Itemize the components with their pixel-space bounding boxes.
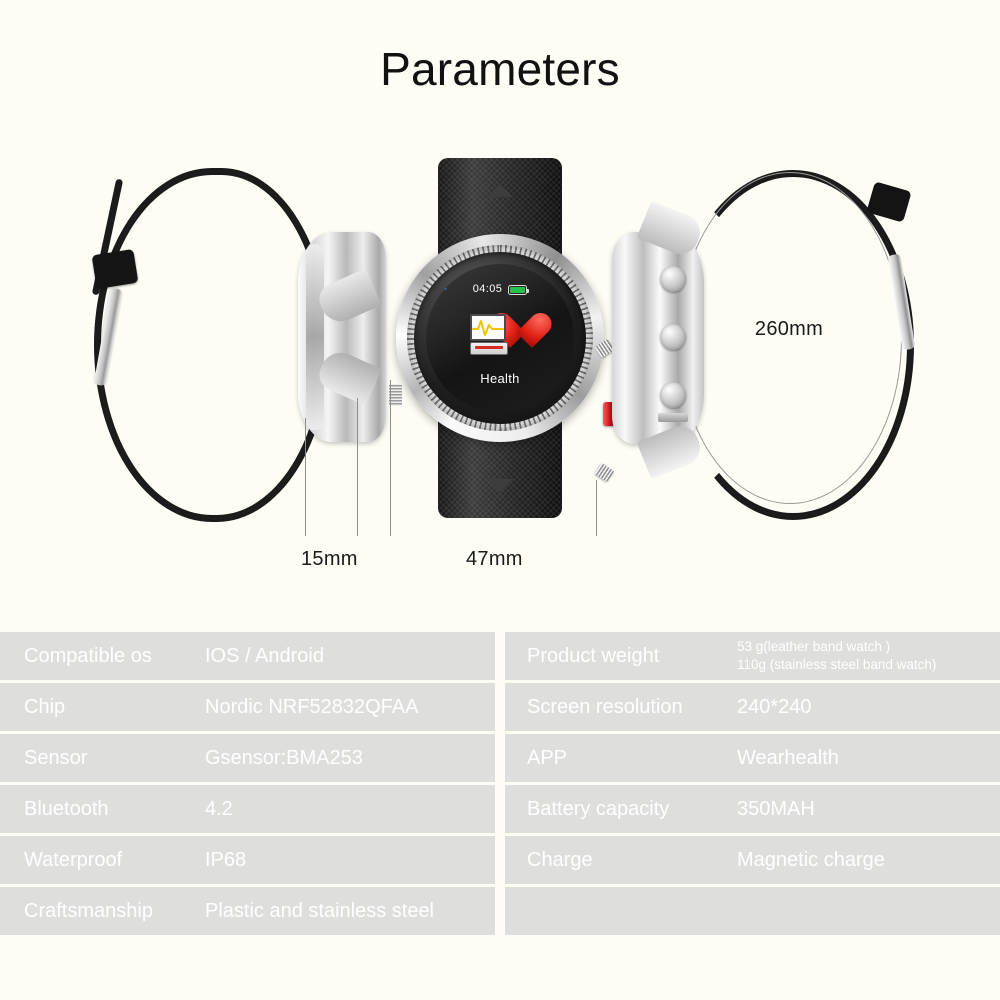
spec-key: Screen resolution [505,696,737,719]
table-row: Battery capacity 350MAH [505,785,1000,833]
table-row [505,887,1000,935]
spec-key: Charge [505,849,737,872]
spec-value: Wearhealth [737,747,1000,770]
spec-value: IP68 [205,849,495,872]
leather-band-loop [94,168,330,522]
band-keeper [92,249,139,289]
side-button-3[interactable] [660,382,686,408]
dimension-label-circumference: 260mm [678,318,900,341]
leader-line-band-a [305,418,306,536]
table-row: APP Wearhealth [505,734,1000,782]
spec-value: 240*240 [737,696,1000,719]
dimension-label-case-diameter: 47mm [466,548,523,571]
spec-key: Waterproof [0,849,205,872]
watch-side-view-leather [88,160,358,520]
spec-key: APP [505,747,737,770]
spec-key: Product weight [505,645,737,668]
battery-icon [508,285,527,295]
spec-value: IOS / Android [205,645,495,668]
screen-status-bar: ◓ 04:05 [426,284,574,295]
watch-lug-top [314,268,381,327]
spec-value: Gsensor:BMA253 [205,747,495,770]
leader-line-band-b [357,398,358,536]
spec-key: Craftsmanship [0,900,205,923]
table-row: Compatible os IOS / Android [0,632,495,680]
watch-case-right [612,232,704,444]
side-port [658,413,688,422]
leader-line-case-left [390,480,391,536]
spec-key: Sensor [0,747,205,770]
spec-value: Magnetic charge [737,849,1000,872]
side-button-1[interactable] [660,266,686,292]
spec-key: Compatible os [0,645,205,668]
ecg-monitor-icon [470,314,508,356]
spec-value: Plastic and stainless steel [205,900,495,923]
spec-column-right: Product weight 53 g(leather band watch )… [505,632,1000,935]
spec-column-left: Compatible os IOS / Android Chip Nordic … [0,632,495,935]
watch-lug-bottom [314,346,381,405]
spec-value: 350MAH [737,798,1000,821]
screen-app-label: Health [426,371,574,386]
ecg-monitor-base [470,342,508,355]
table-row: Screen resolution 240*240 [505,683,1000,731]
table-row: Waterproof IP68 [0,836,495,884]
watch-front-view: ◓ 04:05 Health [390,158,610,518]
screen-clock: 04:05 [473,284,503,295]
spec-value: 4.2 [205,798,495,821]
side-button-2[interactable] [660,324,686,350]
leader-line-case-right [596,480,597,536]
specification-table: Compatible os IOS / Android Chip Nordic … [0,632,1000,935]
chevron-up-icon [487,184,513,197]
chevron-down-icon [487,479,513,492]
table-row: Charge Magnetic charge [505,836,1000,884]
table-row: Product weight 53 g(leather band watch )… [505,632,1000,680]
page-title: Parameters [0,46,1000,92]
watch-screen[interactable]: ◓ 04:05 Health [426,264,574,412]
ecg-monitor-screen [470,314,506,341]
watch-side-view-steel: 260mm [612,160,942,520]
spec-key: Bluetooth [0,798,205,821]
table-row: Bluetooth 4.2 [0,785,495,833]
spec-key: Battery capacity [505,798,737,821]
table-row: Chip Nordic NRF52832QFAA [0,683,495,731]
spec-key: Chip [0,696,205,719]
spec-value: 53 g(leather band watch ) 110g (stainles… [737,638,1000,674]
watch-case-front: ◓ 04:05 Health [396,234,604,442]
ecg-waveform-icon [472,316,504,339]
table-row: Sensor Gsensor:BMA253 [0,734,495,782]
product-image-area: ◓ 04:05 Health [0,130,1000,610]
bluetooth-icon: ◓ [442,285,447,294]
watch-case-left [298,232,386,442]
dimension-label-band-width: 15mm [301,548,358,571]
spec-value: Nordic NRF52832QFAA [205,696,495,719]
table-row: Craftsmanship Plastic and stainless stee… [0,887,495,935]
